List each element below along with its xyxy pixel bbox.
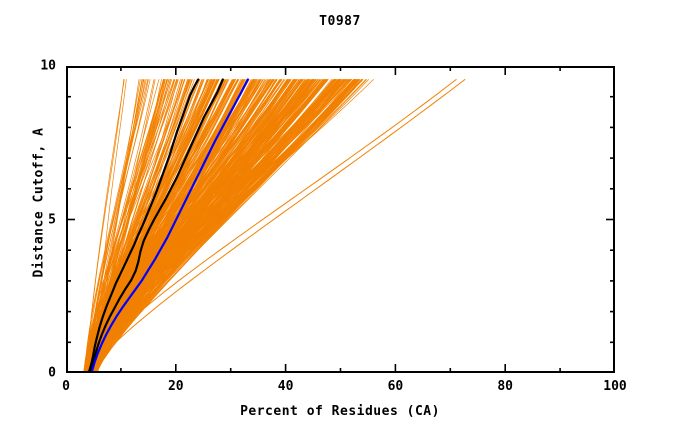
y-axis-title: Distance Cutoff, A xyxy=(32,83,47,323)
x-tick-label: 100 xyxy=(603,379,626,394)
x-tick-label: 20 xyxy=(168,379,184,394)
curves-canvas xyxy=(68,68,613,371)
x-tick-label: 80 xyxy=(497,379,513,394)
y-tick-label: 10 xyxy=(0,59,56,74)
x-tick-label: 60 xyxy=(388,379,404,394)
y-tick-label: 0 xyxy=(0,366,56,381)
x-tick-label: 40 xyxy=(278,379,294,394)
plot-area xyxy=(66,66,615,373)
y-tick-label: 5 xyxy=(0,212,56,227)
page-title: T0987 xyxy=(0,14,680,29)
x-axis-title: Percent of Residues (CA) xyxy=(0,404,680,419)
x-tick-label: 0 xyxy=(62,379,70,394)
chart-figure: T0987 Percent of Residues (CA) Distance … xyxy=(0,0,680,440)
